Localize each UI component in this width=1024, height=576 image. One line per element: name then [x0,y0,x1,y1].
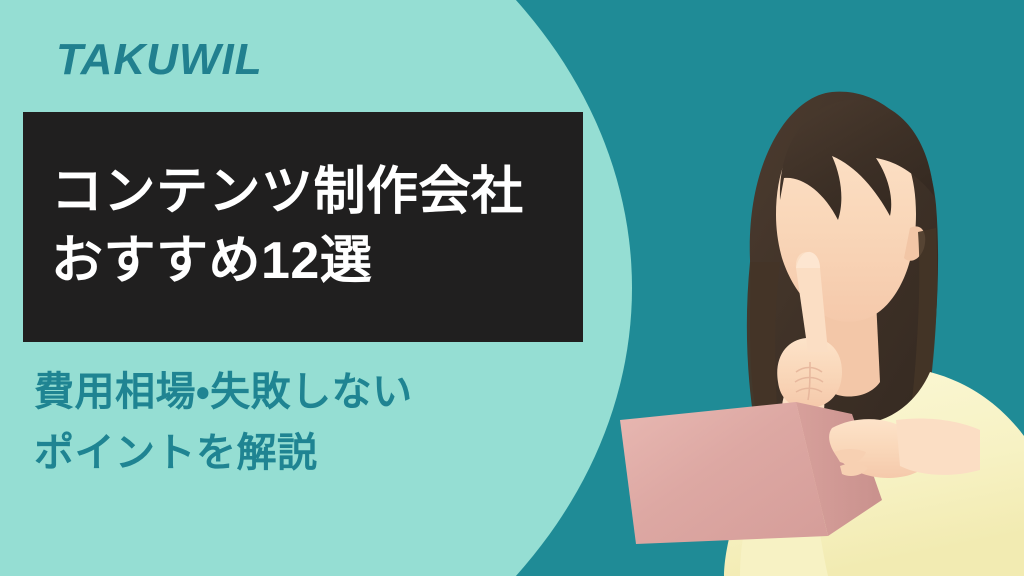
thumbnail-canvas: TAKUWIL コンテンツ制作会社 おすすめ12選 費用相場・失敗しない ポイン… [0,0,1024,576]
headline-line-1: コンテンツ制作会社 [51,158,583,227]
brand-logo[interactable]: TAKUWIL [56,38,263,82]
subtitle-line-2: ポイントを解説 [34,423,413,484]
subtitle-line-1: 費用相場・失敗しない [34,362,413,423]
subtitle: 費用相場・失敗しない ポイントを解説 [34,362,413,484]
headline-plate: コンテンツ制作会社 おすすめ12選 [23,112,583,342]
headline-line-2: おすすめ12選 [51,227,583,296]
